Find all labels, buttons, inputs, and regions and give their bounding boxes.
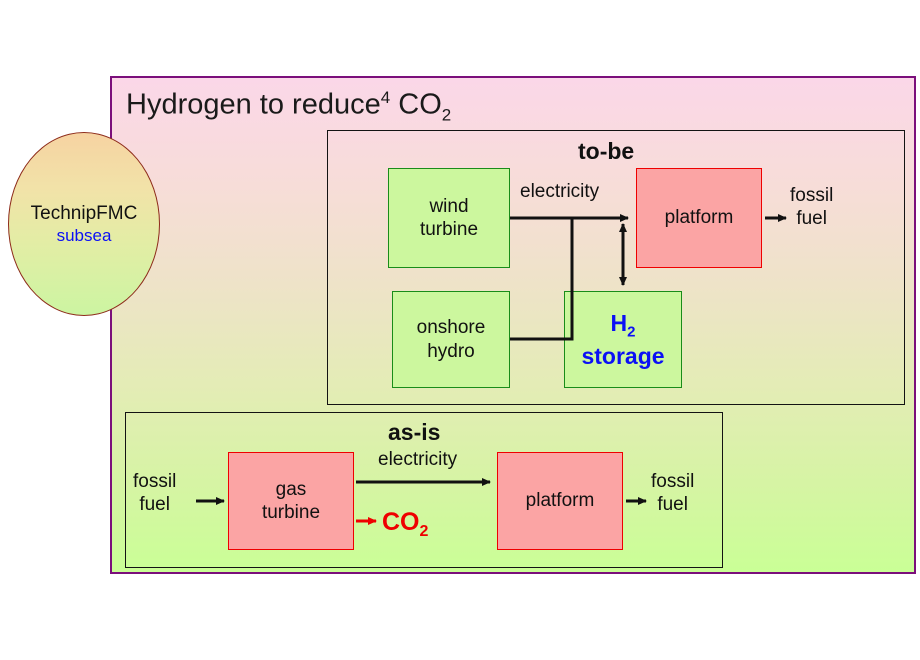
company-logo: TechnipFMC subsea — [8, 132, 160, 316]
to-be-section-title: to-be — [578, 138, 634, 165]
node-fossil-fuel-output-as-is: fossilfuel — [651, 470, 694, 516]
page-title: Hydrogen to reduce4 CO2 — [126, 88, 451, 125]
page-title-text: Hydrogen to reduce — [126, 89, 381, 121]
node-platform-as-is: platform — [497, 452, 623, 550]
node-co2-emission: CO2 — [382, 508, 428, 541]
logo-company-name: TechnipFMC — [31, 202, 138, 226]
co2-formula: CO — [382, 508, 420, 536]
co2-subscript: 2 — [420, 523, 429, 540]
h2-storage-formula: H — [611, 310, 628, 336]
node-fossil-fuel-input-as-is: fossilfuel — [133, 470, 176, 516]
edge-label-electricity-as-is: electricity — [378, 448, 457, 471]
h2-storage-subscript: 2 — [627, 324, 635, 341]
h2-storage-label: storage — [581, 343, 664, 369]
edge-label-electricity-to-be: electricity — [520, 180, 599, 203]
node-h2-storage: H2 storage — [564, 291, 682, 388]
page-title-chem: CO — [398, 89, 442, 121]
node-gas-turbine: gasturbine — [228, 452, 354, 550]
node-fossil-fuel-output-to-be: fossilfuel — [790, 184, 833, 230]
logo-tagline: subsea — [57, 225, 112, 246]
node-wind-turbine: windturbine — [388, 168, 510, 268]
node-onshore-hydro: onshorehydro — [392, 291, 510, 388]
page-title-subscript: 2 — [442, 105, 451, 124]
page-title-superscript: 4 — [381, 88, 390, 107]
node-platform-to-be: platform — [636, 168, 762, 268]
as-is-section-title: as-is — [388, 419, 440, 446]
